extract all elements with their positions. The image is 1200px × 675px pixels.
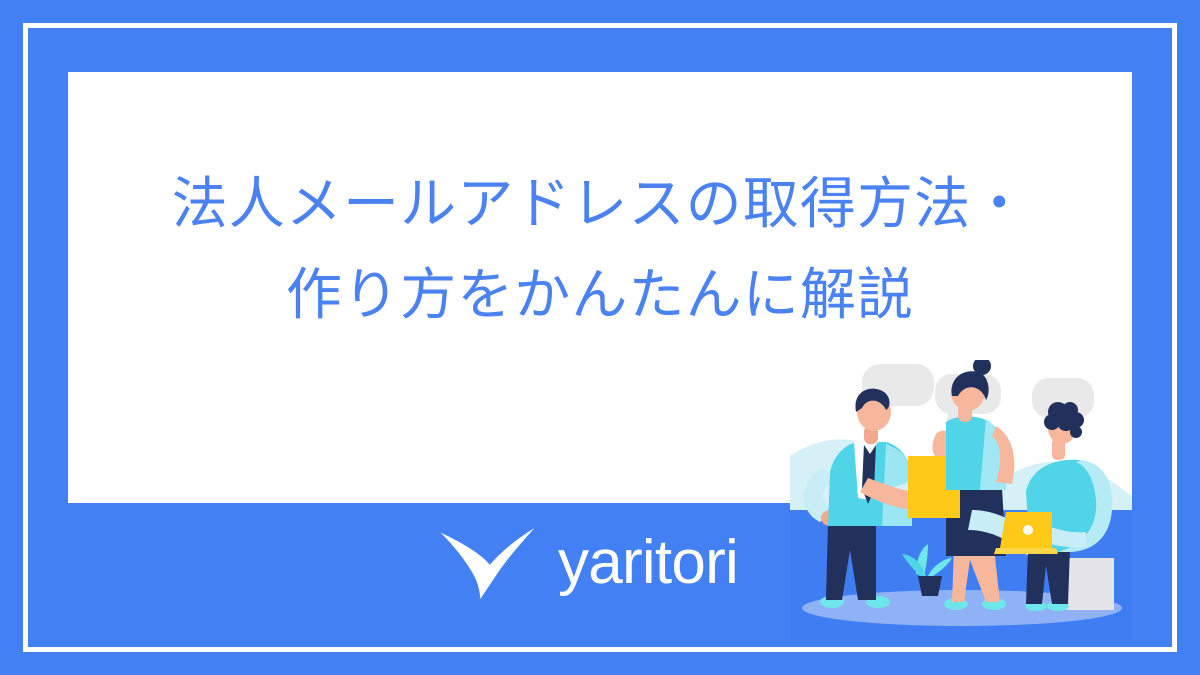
page-title: 法人メールアドレスの取得方法・ 作り方をかんたんに解説 [68, 160, 1132, 341]
plant-pot [918, 576, 942, 596]
page-title-line-2: 作り方をかんたんに解説 [68, 251, 1132, 342]
page-title-line-1: 法人メールアドレスの取得方法・ [68, 160, 1132, 251]
banner-canvas: 法人メールアドレスの取得方法・ 作り方をかんたんに解説 [0, 0, 1200, 675]
business-team-discussion-illustration [790, 360, 1150, 640]
yaritori-logo[interactable]: yaritori [440, 527, 738, 599]
yaritori-wordmark: yaritori [558, 532, 738, 594]
yaritori-swoosh-mark [440, 527, 536, 599]
